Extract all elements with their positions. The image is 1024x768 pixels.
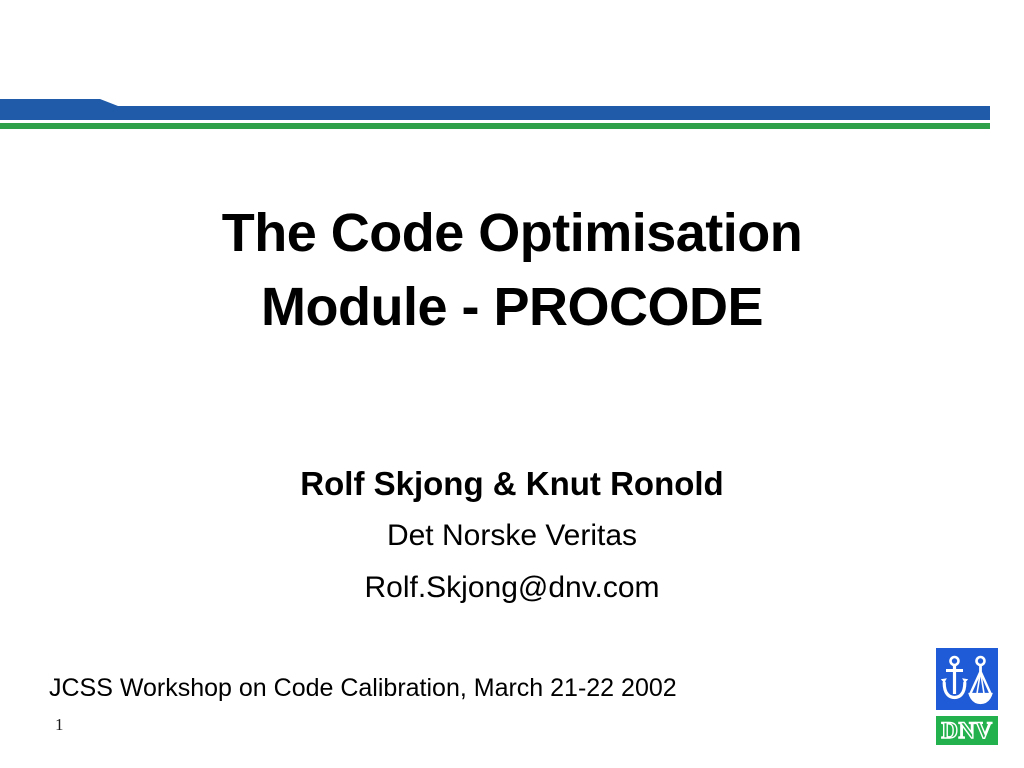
header-stripe-graphic	[0, 0, 1024, 140]
logo-wordmark: DNV	[941, 718, 992, 743]
footer-event-text: JCSS Workshop on Code Calibration, March…	[49, 673, 677, 703]
author-names: Rolf Skjong & Knut Ronold	[0, 458, 1024, 510]
title-line-2: Module - PROCODE	[0, 270, 1024, 344]
author-email: Rolf.Skjong@dnv.com	[0, 562, 1024, 614]
author-organisation: Det Norske Veritas	[0, 510, 1024, 562]
title-line-1: The Code Optimisation	[0, 196, 1024, 270]
header-green-stripe	[0, 123, 990, 129]
header-blue-stripe	[0, 99, 990, 120]
dnv-logo: DNV	[936, 648, 998, 745]
page-number: 1	[55, 715, 64, 735]
slide-title: The Code Optimisation Module - PROCODE	[0, 196, 1024, 344]
author-block: Rolf Skjong & Knut Ronold Det Norske Ver…	[0, 458, 1024, 614]
